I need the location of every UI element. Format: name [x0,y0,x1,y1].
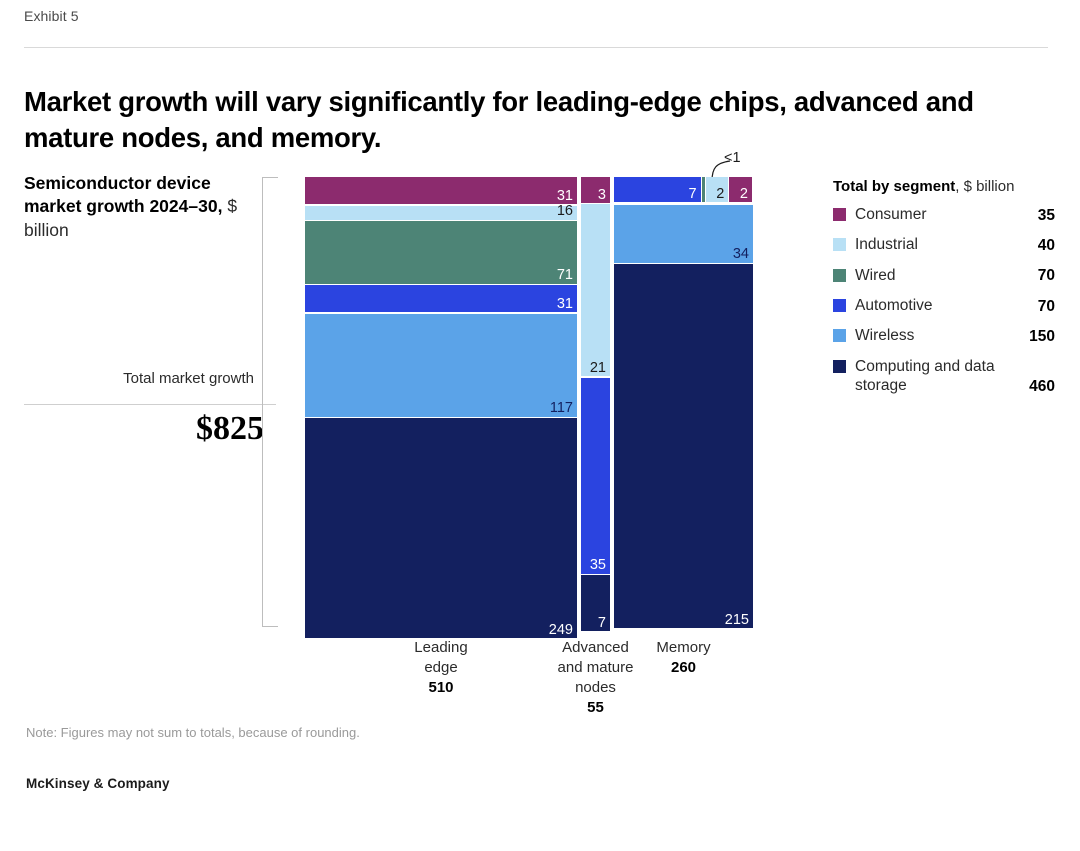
legend-item-consumer[interactable]: Consumer35 [833,205,1055,225]
segment-value-label: 34 [733,247,749,262]
marimekko-chart: 3116713111724932135772234215 [305,177,753,627]
legend-item-automotive[interactable]: Automotive70 [833,296,1055,316]
legend-item-value: 460 [1015,378,1055,396]
legend-swatch-icon [833,269,846,282]
legend: Total by segment, $ billion Consumer35In… [833,178,1055,407]
leading_edge-segment-industrial[interactable]: 16 [305,206,577,220]
x-axis-label-leading_edge: Leadingedge510 [371,638,511,698]
total-market-growth-divider [24,404,276,405]
leading_edge-segment-wired[interactable]: 71 [305,221,577,284]
legend-item-label: Industrial [855,235,1015,255]
x-axis-column-total: 55 [587,699,604,716]
memory-slice-industrial[interactable]: 2 [706,177,730,202]
memory-slice-automotive[interactable]: 7 [614,177,702,202]
memory-top-row: 722 [614,177,753,202]
leading_edge-segment-consumer[interactable]: 31 [305,177,577,204]
legend-title: Total by segment, $ billion [833,178,1055,195]
page-title: Market growth will vary significantly fo… [24,84,1034,154]
x-axis-label-line: edge [371,658,511,678]
advanced_and_mature_nodes-segment-consumer[interactable]: 3 [581,177,610,203]
segment-value-label: 31 [557,189,573,204]
brand-logo: McKinsey & Company [26,776,170,791]
legend-item-label: Automotive [855,296,1015,316]
legend-item-wired[interactable]: Wired70 [833,266,1055,286]
legend-item-industrial[interactable]: Industrial40 [833,235,1055,255]
memory-segment-wireless[interactable]: 34 [614,205,753,263]
chart-axis-title-bold: Semiconductor device market growth 2024–… [24,173,222,216]
legend-swatch-icon [833,299,846,312]
x-axis-column-total: 510 [428,679,453,696]
legend-swatch-icon [833,208,846,221]
leading_edge-segment-wireless[interactable]: 117 [305,314,577,417]
segment-value-label: 35 [590,558,606,573]
segment-value-label: 215 [725,613,749,628]
x-axis-label-line: nodes [526,678,666,698]
legend-item-wireless[interactable]: Wireless150 [833,326,1055,346]
segment-value-label: 7 [598,616,606,631]
legend-item-value: 35 [1015,207,1055,225]
x-axis-total-wrap: 55 [526,698,666,718]
legend-swatch-icon [833,329,846,342]
legend-swatch-icon [833,238,846,251]
callout-label: <1 [724,150,741,166]
marimekko-column-advanced_and_mature_nodes: 321357 [581,177,610,627]
exhibit-label: Exhibit 5 [24,8,79,24]
total-market-growth-value: $825 [24,410,264,448]
x-axis-label-memory: Memory260 [614,638,754,678]
advanced_and_mature_nodes-segment-computing-and-data-storage[interactable]: 7 [581,575,610,631]
legend-item-value: 150 [1015,328,1055,346]
legend-item-value: 70 [1015,267,1055,285]
chart-axis-title: Semiconductor device market growth 2024–… [24,172,264,242]
segment-value-label: 2 [740,187,748,202]
x-axis-total-wrap: 260 [614,658,754,678]
footnote: Note: Figures may not sum to totals, bec… [26,725,360,740]
x-axis-column-total: 260 [671,659,696,676]
segment-value-label: 3 [598,188,606,203]
memory-segment-computing-and-data-storage[interactable]: 215 [614,264,753,628]
segment-value-label: 249 [549,623,573,638]
total-market-growth-label: Total market growth [24,370,254,387]
segment-value-label: 31 [557,297,573,312]
leading_edge-segment-automotive[interactable]: 31 [305,285,577,312]
segment-value-label: 2 [716,187,724,202]
marimekko-column-leading_edge: 31167131117249 [305,177,577,627]
segment-value-label: 21 [590,361,606,376]
legend-item-label: Computing and data storage [855,357,1015,397]
legend-item-value: 70 [1015,298,1055,316]
legend-item-label: Wireless [855,326,1015,346]
legend-item-label: Wired [855,266,1015,286]
legend-title-unit: , $ billion [955,178,1014,195]
legend-title-bold: Total by segment [833,178,955,195]
x-axis-label-line: Leading [371,638,511,658]
x-axis-total-wrap: 510 [371,678,511,698]
leading_edge-segment-computing-and-data-storage[interactable]: 249 [305,418,577,638]
legend-item-computing-and-data-storage[interactable]: Computing and data storage460 [833,357,1055,397]
advanced_and_mature_nodes-segment-automotive[interactable]: 35 [581,378,610,574]
x-axis-label-line: Memory [614,638,754,658]
legend-swatch-icon [833,360,846,373]
legend-items: Consumer35Industrial40Wired70Automotive7… [833,205,1055,396]
segment-value-label: 7 [688,187,696,202]
segment-value-label: 117 [550,401,573,416]
segment-value-label: 16 [557,204,573,219]
legend-item-value: 40 [1015,237,1055,255]
advanced_and_mature_nodes-segment-industrial[interactable]: 21 [581,204,610,376]
memory-slice-consumer[interactable]: 2 [729,177,753,202]
header-divider [24,47,1048,48]
total-bracket [262,177,278,627]
marimekko-column-memory: 72234215 [614,177,753,627]
legend-item-label: Consumer [855,205,1015,225]
segment-value-label: 71 [557,268,573,283]
